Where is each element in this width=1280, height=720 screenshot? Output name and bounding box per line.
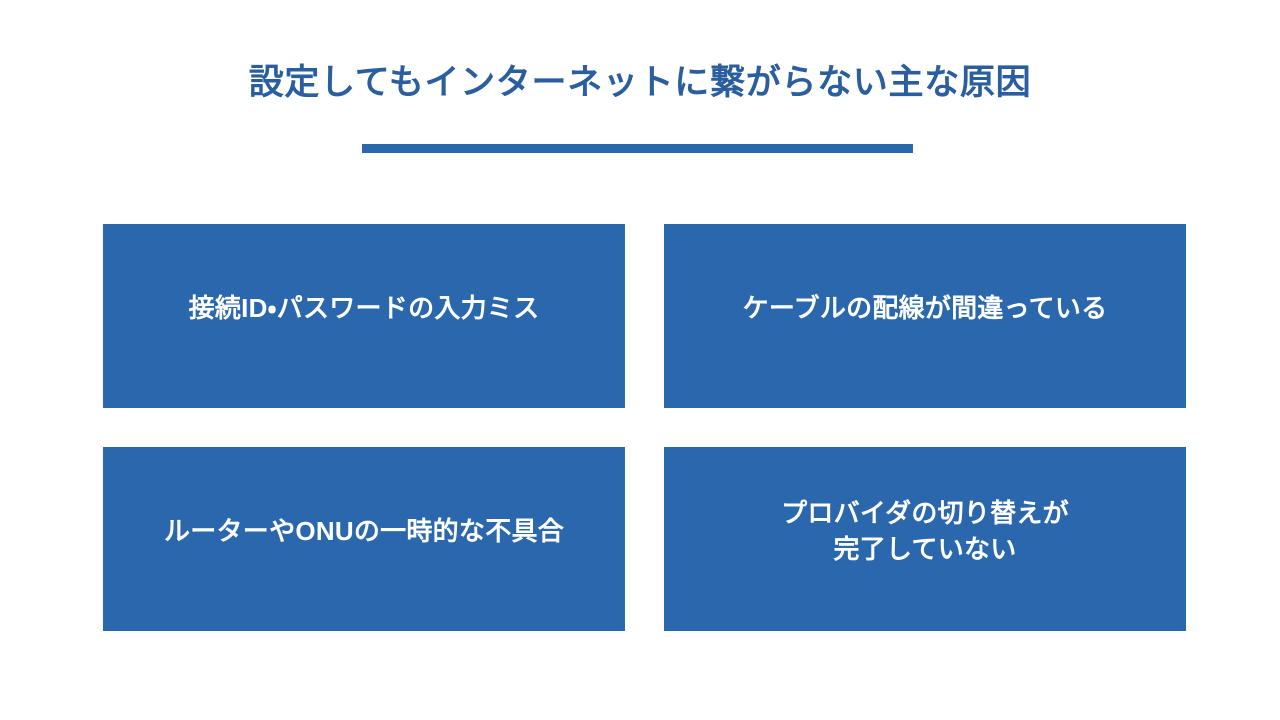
title-accent-bar [362, 144, 913, 153]
cause-card-4-label: プロバイダの切り替えが 完了していない [781, 496, 1069, 568]
cause-card-1-label: 接続ID・パスワードの入力ミス [189, 291, 540, 327]
cause-card-4[interactable]: プロバイダの切り替えが 完了していない [664, 447, 1186, 631]
cause-card-3[interactable]: ルーターやONUの一時的な不具合 [103, 447, 625, 631]
cause-card-2[interactable]: ケーブルの配線が間違っている [664, 224, 1186, 408]
slide-canvas: 設定してもインターネットに繋がらない主な原因 接続ID・パスワードの入力ミス ケ… [0, 0, 1280, 720]
page-title: 設定してもインターネットに繋がらない主な原因 [0, 62, 1280, 104]
cause-card-1[interactable]: 接続ID・パスワードの入力ミス [103, 224, 625, 408]
cause-card-3-label: ルーターやONUの一時的な不具合 [164, 514, 564, 550]
cause-card-2-label: ケーブルの配線が間違っている [743, 291, 1108, 327]
cause-card-grid: 接続ID・パスワードの入力ミス ケーブルの配線が間違っている ルーターやONUの… [103, 224, 1186, 630]
